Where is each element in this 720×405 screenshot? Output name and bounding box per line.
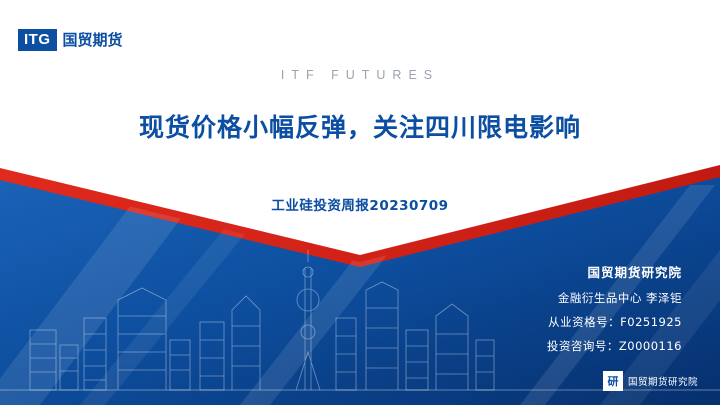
author-info-block: 国贸期货研究院 金融衍生品中心 李泽钜 从业资格号：F0251925 投资咨询号… xyxy=(547,262,682,362)
research-institute-name: 国贸期货研究院 xyxy=(547,262,682,281)
badge-mark-icon: 研 xyxy=(603,371,623,391)
badge-label: 国贸期货研究院 xyxy=(628,374,698,388)
author-department-name: 金融衍生品中心 李泽钜 xyxy=(547,290,682,306)
investment-consulting-number: 投资咨询号：Z0000116 xyxy=(547,338,682,354)
research-institute-badge: 研 国贸期货研究院 xyxy=(603,371,698,391)
report-subtitle: 工业硅投资周报20230709 xyxy=(0,194,720,214)
brand-tagline: ITF FUTURES xyxy=(0,68,720,82)
company-logo: ITG 国贸期货 xyxy=(18,27,123,53)
page-title: 现货价格小幅反弹，关注四川限电影响 xyxy=(0,108,720,144)
logo-company-name: 国贸期货 xyxy=(63,33,123,48)
logo-mark-itg: ITG xyxy=(18,29,57,51)
presentation-cover-slide: ITG 国贸期货 ITF FUTURES 现货价格小幅反弹，关注四川限电影响 工… xyxy=(0,0,720,405)
practitioner-qualification-number: 从业资格号：F0251925 xyxy=(547,314,682,330)
